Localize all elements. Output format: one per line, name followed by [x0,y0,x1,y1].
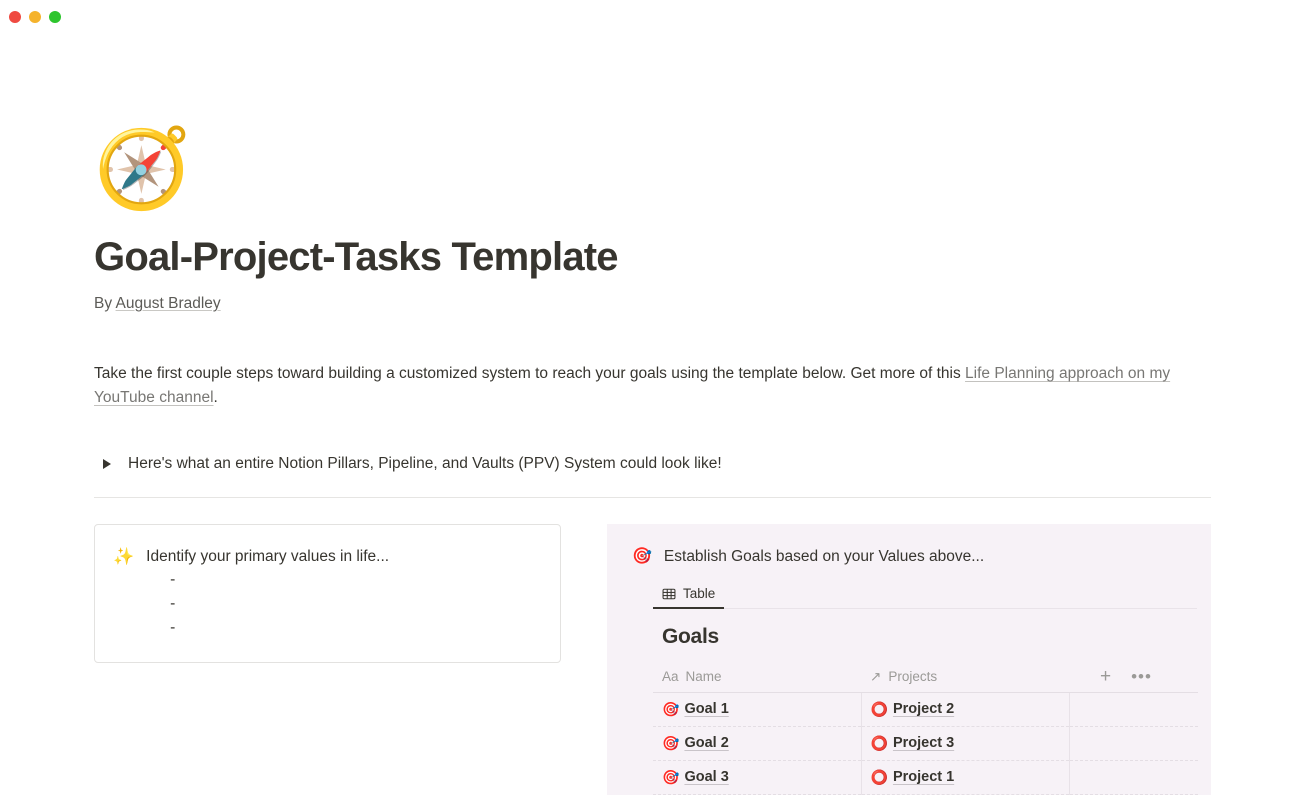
goal-name-link[interactable]: Goal 2 [684,735,728,751]
byline: By August Bradley [94,295,1211,313]
collapsible-toggle[interactable]: Here's what an entire Notion Pillars, Pi… [94,451,1211,477]
database-heading-text[interactable]: Establish Goals based on your Values abo… [664,546,984,568]
direct-hit-emoji: 🎯 [632,546,652,568]
maximize-window-button[interactable] [49,11,61,23]
close-window-button[interactable] [9,11,21,23]
column-header-actions: + ••• [1069,662,1198,692]
column-header-name[interactable]: Aa Name [653,662,861,692]
relation-arrow-icon: ↗ [870,669,881,685]
cell-goal-name[interactable]: 🎯 Goal 1 [653,692,861,726]
author-link[interactable]: August Bradley [116,295,221,312]
intro-text-part2: . [214,389,218,406]
project-relation-link[interactable]: Project 2 [893,701,954,717]
red-circle-emoji: ⭕ [871,769,888,786]
sparkles-emoji: ✨ [113,546,134,640]
direct-hit-emoji: 🎯 [662,701,679,718]
project-relation-link[interactable]: Project 3 [893,735,954,751]
red-circle-emoji: ⭕ [871,701,888,718]
tab-table[interactable]: Table [653,582,724,609]
page-title: Goal-Project-Tasks Template [94,234,1211,280]
toggle-label[interactable]: Here's what an entire Notion Pillars, Pi… [128,455,722,473]
direct-hit-emoji: 🎯 [662,769,679,786]
cell-empty[interactable] [1069,692,1198,726]
goals-database-panel: 🎯 Establish Goals based on your Values a… [607,524,1211,795]
table-icon [662,587,676,601]
column-header-name-label: Name [686,669,722,684]
page-canvas: 🧭 Goal-Project-Tasks Template By August … [0,34,1305,779]
table-header-row: Aa Name ↗ Projects [653,662,1198,692]
values-callout: ✨ Identify your primary values in life..… [94,524,561,663]
window-titlebar [0,0,1305,34]
tab-table-label[interactable]: Table [683,586,715,601]
red-circle-emoji: ⭕ [871,735,888,752]
cell-empty[interactable] [1069,760,1198,794]
table-more-options-button[interactable]: ••• [1131,668,1152,685]
goal-name-link[interactable]: Goal 3 [684,769,728,785]
cell-empty[interactable] [1069,726,1198,760]
callout-line-1[interactable]: - [146,568,542,592]
table-row[interactable]: 🎯 Goal 2 ⭕ Project 3 [653,726,1198,760]
callout-title[interactable]: Identify your primary values in life... [146,546,542,568]
horizontal-divider [94,497,1211,498]
goal-name-link[interactable]: Goal 1 [684,701,728,717]
callout-body: Identify your primary values in life... … [146,546,542,640]
add-column-button[interactable]: + [1100,667,1111,686]
goals-table: Aa Name ↗ Projects [653,662,1198,795]
database-heading: 🎯 Establish Goals based on your Values a… [621,546,1197,568]
text-type-icon: Aa [662,669,679,684]
compass-emoji[interactable]: 🧭 [94,129,1211,211]
byline-prefix: By [94,295,112,312]
column-header-projects[interactable]: ↗ Projects [861,662,1069,692]
intro-paragraph: Take the first couple steps toward build… [94,362,1211,410]
callout-line-3[interactable]: - [146,616,542,640]
minimize-window-button[interactable] [29,11,41,23]
intro-text-part1: Take the first couple steps toward build… [94,365,965,382]
goals-table-head: Aa Name ↗ Projects [653,662,1198,692]
two-column-layout: ✨ Identify your primary values in life..… [94,524,1211,795]
column-header-projects-label: Projects [888,669,937,684]
table-row[interactable]: 🎯 Goal 3 ⭕ Project 1 [653,760,1198,794]
cell-project-relation[interactable]: ⭕ Project 1 [861,760,1069,794]
triangle-right-icon[interactable] [103,459,111,469]
cell-goal-name[interactable]: 🎯 Goal 3 [653,760,861,794]
cell-goal-name[interactable]: 🎯 Goal 2 [653,726,861,760]
project-relation-link[interactable]: Project 1 [893,769,954,785]
table-row[interactable]: 🎯 Goal 1 ⭕ Project 2 [653,692,1198,726]
callout-line-2[interactable]: - [146,592,542,616]
cell-project-relation[interactable]: ⭕ Project 3 [861,726,1069,760]
database-view-tabs: Table [621,582,1197,609]
cell-project-relation[interactable]: ⭕ Project 2 [861,692,1069,726]
direct-hit-emoji: 🎯 [662,735,679,752]
database-title[interactable]: Goals [621,625,1197,649]
